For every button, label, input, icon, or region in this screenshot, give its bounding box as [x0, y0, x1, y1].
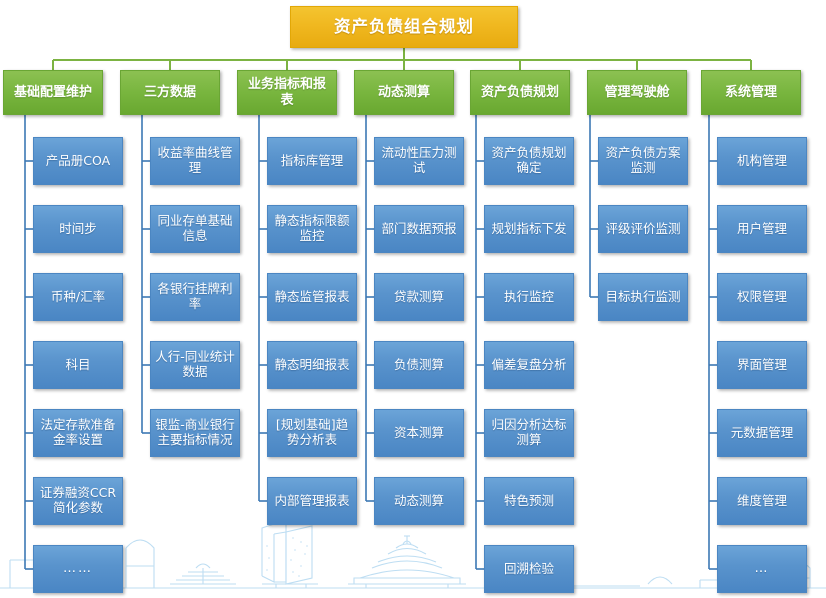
- column-header-资产负债规划[interactable]: 资产负债规划: [470, 70, 570, 115]
- leaf-node[interactable]: [规划基础]趋势分析表: [267, 409, 357, 457]
- leaf-node[interactable]: 动态测算: [374, 477, 464, 525]
- leaf-node[interactable]: 贷款测算: [374, 273, 464, 321]
- leaf-node[interactable]: 产品册COA: [33, 137, 123, 185]
- leaf-node[interactable]: 回溯检验: [484, 545, 574, 593]
- leaf-node[interactable]: 银监-商业银行主要指标情况: [150, 409, 240, 457]
- leaf-node[interactable]: 流动性压力测试: [374, 137, 464, 185]
- leaf-node[interactable]: 静态指标限额监控: [267, 205, 357, 253]
- leaf-node[interactable]: 归因分析达标测算: [484, 409, 574, 457]
- diagram-canvas: 资产负债组合规划 基础配置维护 三方数据 业务指标和报表 动态测算 资产负债规划…: [0, 0, 826, 598]
- leaf-node[interactable]: 用户管理: [717, 205, 807, 253]
- leaf-node[interactable]: 静态明细报表: [267, 341, 357, 389]
- leaf-node[interactable]: 维度管理: [717, 477, 807, 525]
- leaf-node[interactable]: 界面管理: [717, 341, 807, 389]
- column-header-系统管理[interactable]: 系统管理: [701, 70, 801, 115]
- leaf-node[interactable]: 机构管理: [717, 137, 807, 185]
- column-header-三方数据[interactable]: 三方数据: [120, 70, 220, 115]
- leaf-node[interactable]: 权限管理: [717, 273, 807, 321]
- leaf-node[interactable]: 收益率曲线管理: [150, 137, 240, 185]
- column-header-业务指标和报表[interactable]: 业务指标和报表: [237, 70, 337, 115]
- column-header-基础配置维护[interactable]: 基础配置维护: [3, 70, 103, 115]
- leaf-node[interactable]: 部门数据预报: [374, 205, 464, 253]
- leaf-node[interactable]: 偏差复盘分析: [484, 341, 574, 389]
- leaf-node[interactable]: 资产负债方案监测: [598, 137, 688, 185]
- leaf-node[interactable]: 目标执行监测: [598, 273, 688, 321]
- leaf-node[interactable]: 科目: [33, 341, 123, 389]
- leaf-node[interactable]: 资本测算: [374, 409, 464, 457]
- leaf-node-ellipsis[interactable]: …: [717, 545, 807, 593]
- leaf-node[interactable]: 证券融资CCR简化参数: [33, 477, 123, 525]
- leaf-node[interactable]: 法定存款准备金率设置: [33, 409, 123, 457]
- leaf-node[interactable]: 同业存单基础信息: [150, 205, 240, 253]
- leaf-node[interactable]: 特色预测: [484, 477, 574, 525]
- leaf-node[interactable]: 币种/汇率: [33, 273, 123, 321]
- leaf-node[interactable]: 静态监管报表: [267, 273, 357, 321]
- leaf-node[interactable]: 人行-同业统计数据: [150, 341, 240, 389]
- leaf-node[interactable]: 时间步: [33, 205, 123, 253]
- column-header-动态测算[interactable]: 动态测算: [354, 70, 454, 115]
- leaf-node[interactable]: 评级评价监测: [598, 205, 688, 253]
- leaf-node[interactable]: 执行监控: [484, 273, 574, 321]
- leaf-node[interactable]: 负债测算: [374, 341, 464, 389]
- root-node-title[interactable]: 资产负债组合规划: [290, 6, 518, 48]
- leaf-node[interactable]: 各银行挂牌利率: [150, 273, 240, 321]
- leaf-node[interactable]: 元数据管理: [717, 409, 807, 457]
- leaf-node[interactable]: 规划指标下发: [484, 205, 574, 253]
- leaf-node[interactable]: 资产负债规划确定: [484, 137, 574, 185]
- leaf-node-ellipsis[interactable]: ……: [33, 545, 123, 593]
- leaf-node[interactable]: 内部管理报表: [267, 477, 357, 525]
- leaf-node[interactable]: 指标库管理: [267, 137, 357, 185]
- column-header-管理驾驶舱[interactable]: 管理驾驶舱: [587, 70, 687, 115]
